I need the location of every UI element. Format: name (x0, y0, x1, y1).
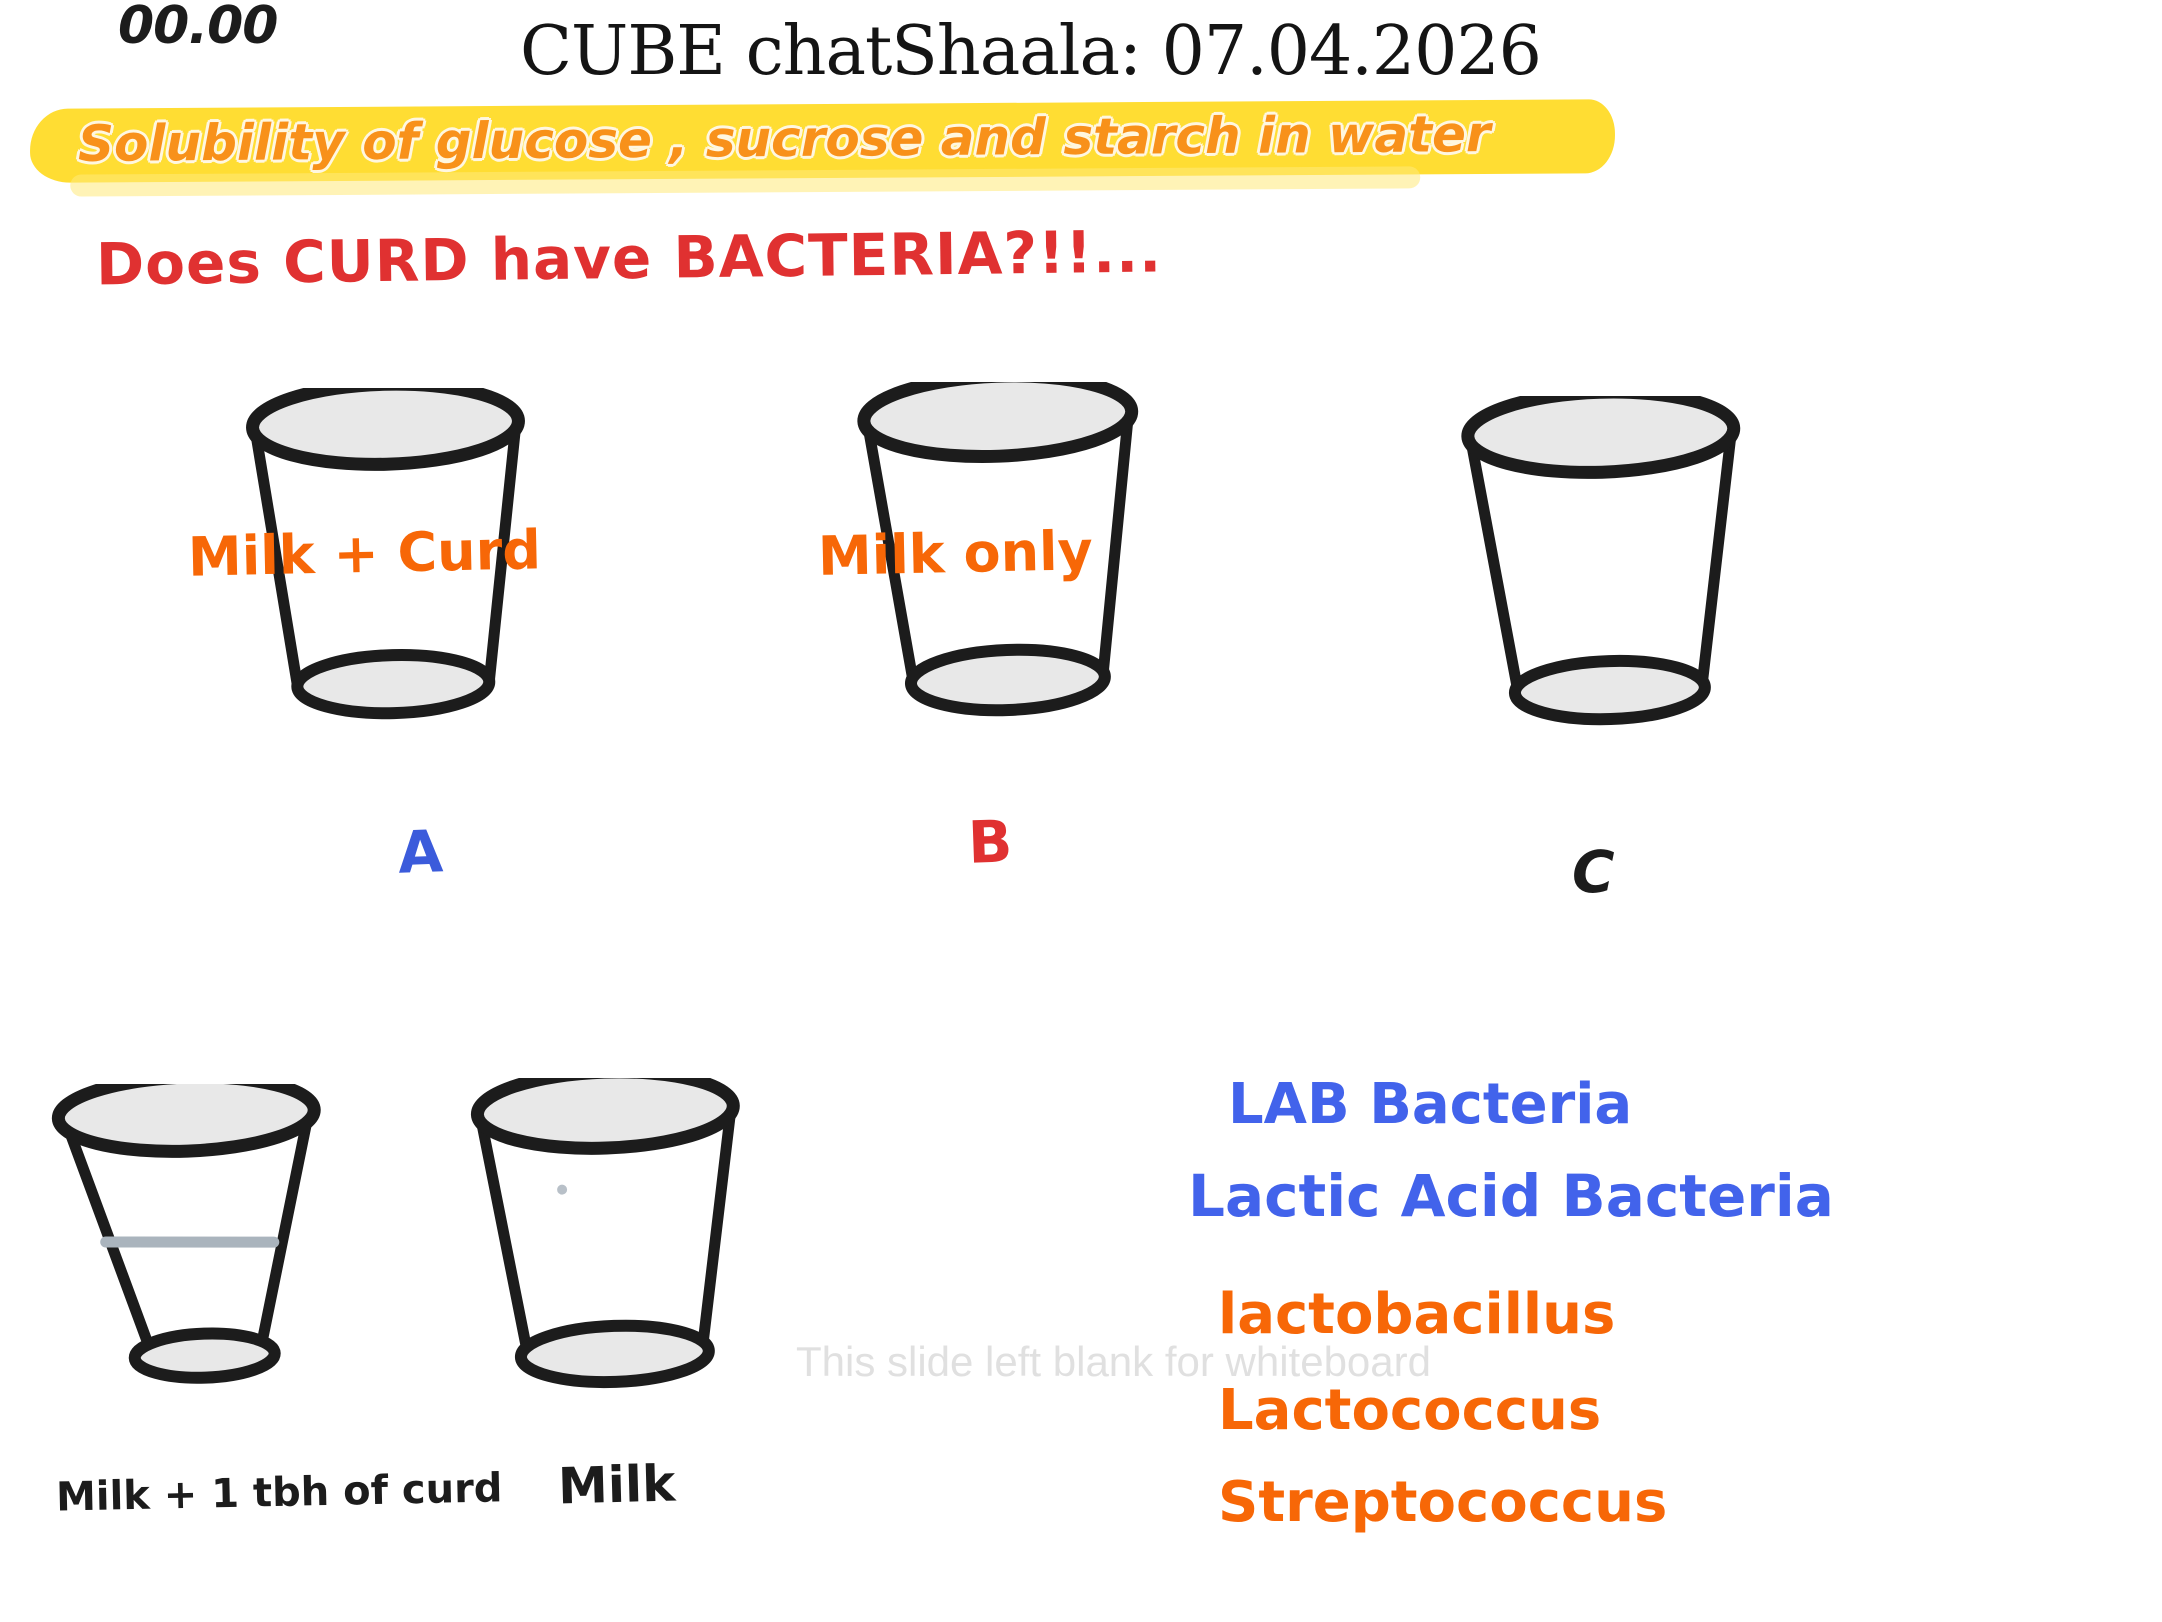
question-heading: Does CURD have BACTERIA?!!... (96, 217, 1163, 298)
bacteria-term-lab: LAB Bacteria (1228, 1072, 1632, 1137)
beaker-milk-curd-caption: Milk + 1 tbh of curd (56, 1465, 503, 1520)
beaker-milk-caption: Milk (557, 1454, 676, 1515)
subtitle-highlight-block: Solubility of glucose , sucrose and star… (30, 104, 1630, 178)
beaker-milk-drawing (460, 1078, 760, 1408)
stray-dot-mark (557, 1184, 567, 1194)
bacteria-genus-streptococcus: Streptococcus (1218, 1470, 1667, 1535)
timestamp-label: 00.00 (118, 0, 277, 56)
cup-a-contents-label: Milk + Curd (187, 518, 541, 588)
cup-c-drawing (1450, 396, 1770, 736)
deck-title: CUBE chatShaala: 07.04.2026 (520, 12, 1541, 91)
bacteria-genus-lactococcus: Lactococcus (1218, 1378, 1601, 1443)
bacteria-term-lactic-acid: Lactic Acid Bacteria (1188, 1162, 1834, 1230)
cup-b-id: B (967, 807, 1014, 877)
cup-c-id: C (1572, 838, 1615, 906)
cup-a-id: A (397, 817, 444, 887)
milk-fill-level-line (106, 1236, 274, 1248)
cup-b-contents-label: Milk only (817, 519, 1093, 588)
whiteboard-slide: 00.00 CUBE chatShaala: 07.04.2026 Solubi… (0, 0, 2162, 1622)
beaker-milk-curd-drawing (42, 1084, 342, 1414)
subtitle-text: Solubility of glucose , sucrose and star… (78, 105, 1491, 173)
bacteria-genus-lactobacillus: lactobacillus (1218, 1282, 1615, 1347)
